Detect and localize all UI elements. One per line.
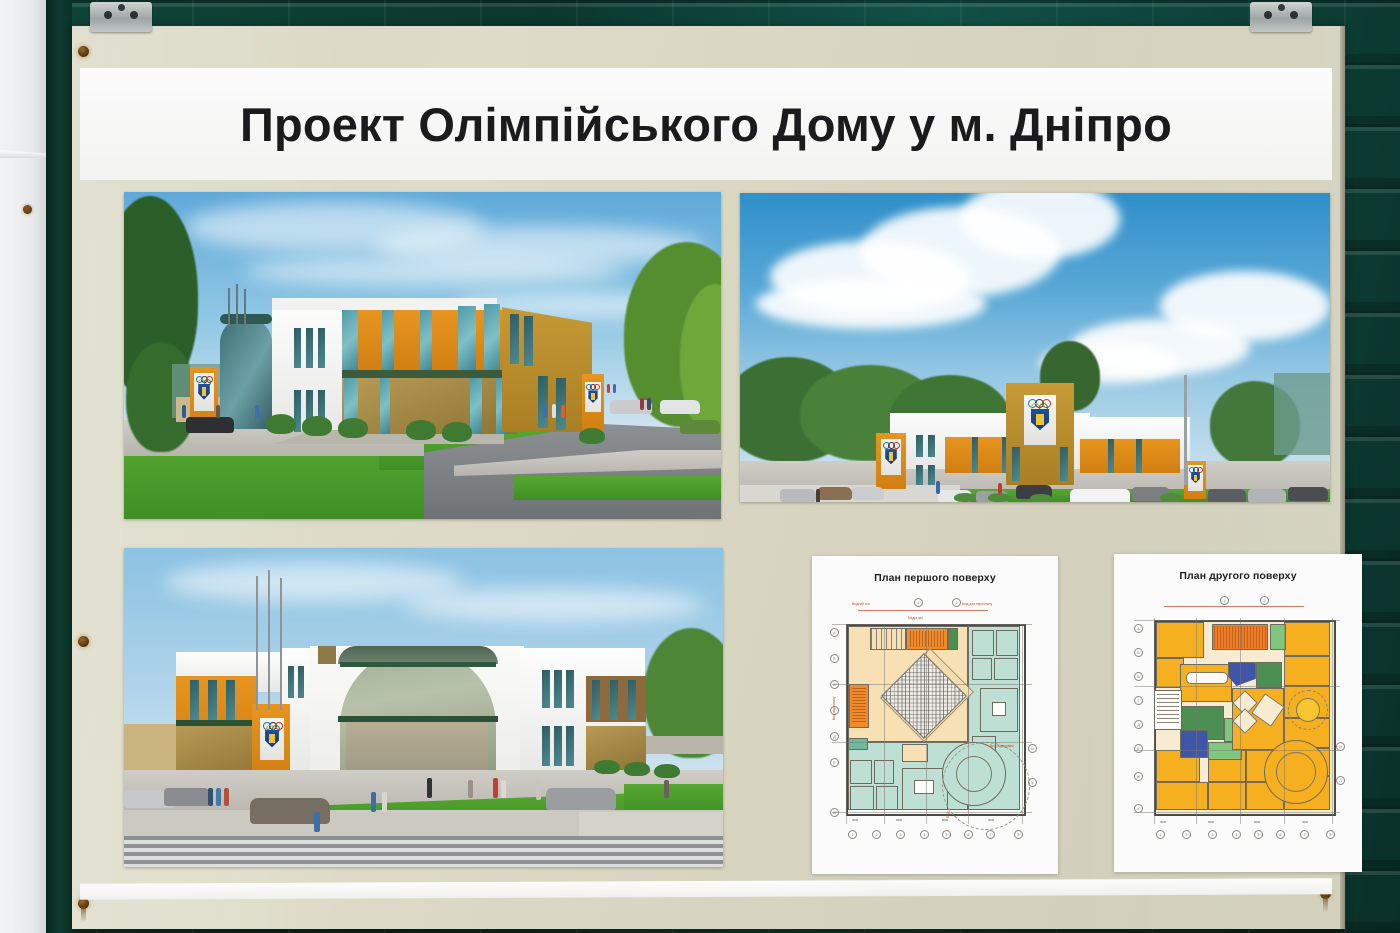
olympic-emblem-entrance	[260, 718, 284, 760]
plan-drawing-second-floor: 1 2	[1124, 590, 1352, 858]
shrub	[338, 418, 368, 438]
shrub	[579, 428, 605, 444]
person	[224, 788, 229, 806]
person	[468, 780, 473, 798]
shrub	[594, 760, 620, 774]
flag-mast	[244, 289, 246, 327]
person	[255, 405, 259, 418]
car	[818, 487, 852, 500]
person	[936, 481, 940, 494]
slot-window	[294, 328, 301, 368]
ukraine-shield-icon	[198, 384, 210, 400]
atrium-band	[340, 662, 496, 667]
person	[607, 384, 610, 393]
page-title: Проект Олімпійського Дому у м. Дніпро	[80, 68, 1332, 180]
ukraine-shield-icon	[885, 449, 897, 464]
slot-window	[928, 465, 935, 485]
olympic-rings-icon	[1024, 395, 1056, 409]
flag-mast	[236, 284, 238, 326]
person	[647, 398, 651, 410]
window-mullion	[1136, 439, 1142, 473]
window	[610, 680, 618, 720]
person	[382, 792, 387, 812]
car	[852, 487, 884, 500]
olympic-emblem-2	[585, 382, 601, 412]
person	[216, 788, 221, 806]
car	[610, 400, 652, 414]
shrub	[302, 416, 332, 436]
person	[613, 384, 616, 393]
cloud	[164, 562, 464, 602]
ukraine-shield-icon	[588, 390, 597, 403]
fixing-screw-middle-left	[78, 636, 89, 647]
wing-window	[556, 378, 566, 430]
person	[536, 780, 541, 800]
wing-window	[510, 314, 519, 364]
window	[226, 680, 235, 720]
person	[371, 792, 376, 812]
plan-drawing-first-floor: Вхідний хол Вхід для персоналу Медіа зал…	[822, 592, 1048, 860]
person	[216, 405, 220, 418]
flag-mast	[256, 576, 258, 710]
olympic-rings-icon	[194, 373, 214, 384]
window	[592, 680, 600, 720]
slot-window	[288, 666, 294, 698]
canopy-band	[342, 370, 517, 378]
cloud	[756, 279, 986, 329]
slot-window	[298, 666, 304, 698]
wing-window	[524, 316, 533, 366]
slot-window	[928, 435, 935, 457]
person	[208, 788, 213, 806]
ukraine-shield-icon	[265, 730, 279, 748]
rendering-exterior-main-entrance	[124, 548, 723, 867]
rendering-exterior-front-facade	[740, 193, 1330, 502]
glass-cylinder	[220, 317, 272, 429]
person	[427, 778, 432, 798]
window	[628, 680, 636, 720]
shrub	[406, 420, 436, 440]
wing-window	[538, 376, 548, 428]
person	[182, 405, 186, 418]
person	[543, 404, 547, 418]
cloud	[244, 256, 624, 286]
plan-title-second-floor: План другого поверху	[1114, 570, 1362, 582]
plan-sheet-second-floor: План другого поверху 1 2	[1114, 554, 1362, 872]
slot-window	[916, 435, 923, 457]
slot-window	[554, 726, 562, 766]
curtain-glass	[382, 310, 394, 372]
olympic-emblem-left	[881, 439, 901, 475]
olympic-rings-icon	[881, 439, 901, 449]
olympic-emblem-tower	[1024, 395, 1056, 445]
shrub	[266, 414, 296, 434]
person	[640, 398, 644, 410]
slot-window	[554, 670, 562, 708]
person	[552, 404, 556, 418]
slot-window	[306, 328, 313, 368]
suv	[1070, 489, 1130, 502]
window-mullion	[972, 437, 978, 473]
car	[1288, 487, 1328, 501]
person	[816, 489, 820, 502]
slot-window	[916, 465, 923, 485]
project-signboard: Проект Олімпійського Дому у м. Дніпро	[72, 26, 1340, 929]
sports-fence	[1274, 373, 1330, 455]
title-band: Проект Олімпійського Дому у м. Дніпро	[80, 68, 1332, 180]
olympic-rings-icon	[260, 718, 284, 730]
olympic-emblem	[194, 373, 214, 411]
facade-orange-right	[1080, 439, 1180, 473]
tower-window	[1012, 447, 1020, 481]
rendering-exterior-perspective-southwest	[124, 192, 721, 519]
window	[208, 680, 217, 720]
slot-window	[566, 670, 574, 708]
person	[561, 405, 565, 418]
ukraine-shield-icon	[1031, 409, 1050, 430]
mounting-bracket-left	[90, 2, 152, 32]
person	[501, 780, 506, 798]
curtain-glass	[484, 304, 500, 374]
car	[164, 788, 210, 806]
slot-window	[318, 328, 325, 368]
person	[314, 812, 320, 832]
car	[1248, 489, 1286, 502]
car	[546, 788, 616, 810]
cloud	[1160, 271, 1330, 341]
curtain-glass	[458, 306, 476, 372]
shrub	[988, 493, 1010, 502]
curtain-glass	[342, 310, 358, 372]
flag-mast	[268, 570, 270, 710]
olympic-rings-icon	[585, 382, 601, 390]
atrium-canopy-left	[318, 646, 336, 664]
ground-glass	[470, 378, 482, 434]
shrub	[954, 493, 976, 502]
car	[186, 417, 234, 433]
lawn-right	[514, 476, 721, 500]
shrub	[654, 764, 680, 778]
fixing-screw-top-left	[78, 46, 89, 57]
shrub	[1030, 494, 1052, 502]
mounting-bracket-right	[1250, 2, 1312, 32]
curtain-glass	[420, 310, 432, 372]
car	[1208, 489, 1246, 502]
slot-window	[542, 726, 550, 766]
olympic-emblem-right	[1188, 465, 1203, 491]
adjacent-board-screw	[23, 205, 32, 214]
window-mullion	[1108, 439, 1114, 473]
car	[780, 489, 816, 502]
window	[190, 680, 199, 720]
olympic-rings-icon	[1188, 465, 1203, 472]
fence-post-shadow	[46, 0, 72, 933]
ukraine-shield-icon	[1191, 472, 1200, 483]
slot-window	[542, 670, 550, 708]
plan-title-first-floor: План першого поверху	[812, 572, 1058, 584]
cloud	[404, 588, 704, 622]
light-pole	[1184, 375, 1187, 485]
car	[660, 400, 700, 414]
shrub	[1160, 493, 1182, 502]
flag-mast	[280, 578, 282, 710]
crosswalk	[124, 836, 723, 867]
flag-mast	[228, 288, 230, 326]
tower-window	[1060, 447, 1068, 481]
plan-sheet-first-floor: План першого поверху Вхідний хол Вхід дл…	[812, 556, 1058, 874]
shrub	[442, 422, 472, 442]
ground-glass	[380, 378, 390, 434]
adjacent-board-edge	[0, 0, 46, 933]
slot-window	[566, 726, 574, 766]
shrub	[624, 762, 650, 776]
car	[680, 420, 720, 434]
person	[493, 778, 498, 798]
person	[664, 780, 669, 798]
